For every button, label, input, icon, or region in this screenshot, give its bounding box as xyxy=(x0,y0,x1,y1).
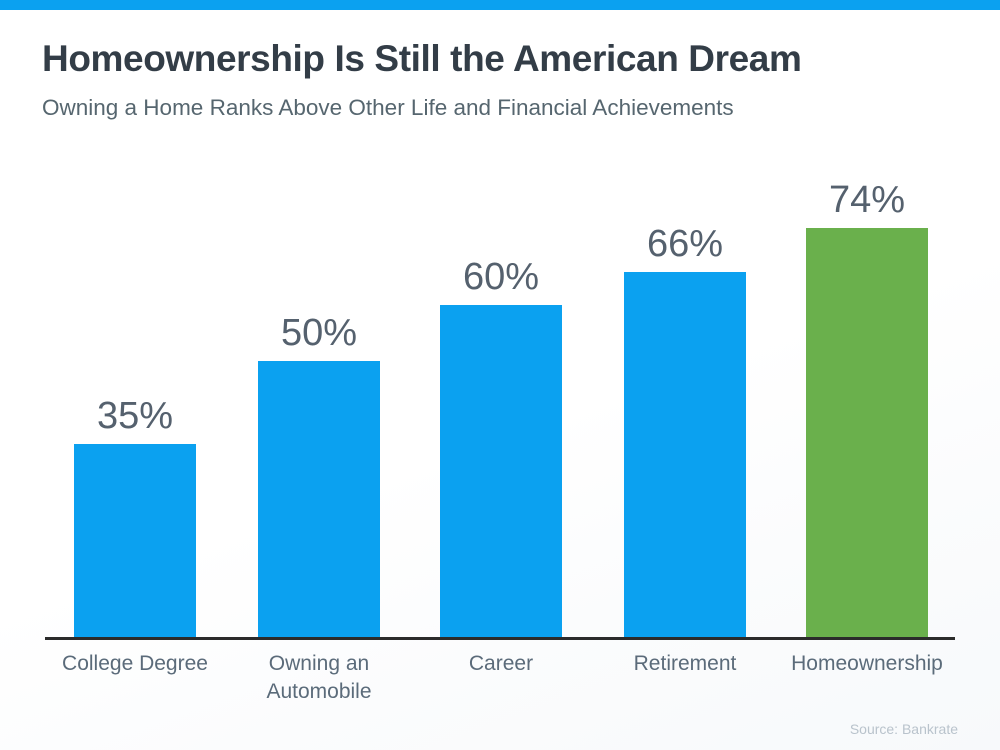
bar-rect[interactable] xyxy=(74,444,196,637)
bar-value-label: 35% xyxy=(97,394,173,438)
x-axis-tick-label-line: Automobile xyxy=(224,678,414,706)
bar-rect[interactable] xyxy=(806,228,928,637)
bar-group: 74% xyxy=(806,228,928,637)
bar-group: 50% xyxy=(258,361,380,637)
x-axis-line xyxy=(45,637,955,640)
bar-value-label: 74% xyxy=(829,178,905,222)
bar-group: 66% xyxy=(624,272,746,637)
source-note: Source: Bankrate xyxy=(850,720,958,738)
bar-value-label: 50% xyxy=(281,311,357,355)
chart-plot-area: 35%50%60%66%74% xyxy=(45,160,955,640)
bar-group: 35% xyxy=(74,444,196,637)
x-axis-tick-label: Homeownership xyxy=(772,650,962,678)
x-axis-tick-label-line: College Degree xyxy=(62,652,208,675)
bar-rect[interactable] xyxy=(624,272,746,637)
bar-value-label: 60% xyxy=(463,255,539,299)
x-axis-tick-label: Retirement xyxy=(590,650,780,678)
x-axis-tick-label-line: Owning an xyxy=(269,652,369,675)
header-block: Homeownership Is Still the American Drea… xyxy=(42,36,962,123)
bar-rect[interactable] xyxy=(440,305,562,637)
x-axis-tick-label: Owning an Automobile xyxy=(224,650,414,706)
bar-rect[interactable] xyxy=(258,361,380,637)
page-subtitle: Owning a Home Ranks Above Other Life and… xyxy=(42,93,962,123)
page-title: Homeownership Is Still the American Drea… xyxy=(42,36,962,82)
x-axis-tick-label-line: Career xyxy=(469,652,533,675)
infographic-canvas: Homeownership Is Still the American Drea… xyxy=(0,0,1000,750)
top-accent-bar xyxy=(0,0,1000,10)
bar-value-label: 66% xyxy=(647,222,723,266)
x-axis-tick-label: College Degree xyxy=(40,650,230,678)
x-axis-tick-label-line: Homeownership xyxy=(791,652,943,675)
bar-group: 60% xyxy=(440,305,562,637)
x-axis-tick-label: Career xyxy=(406,650,596,678)
x-axis-tick-labels: College DegreeOwning an AutomobileCareer… xyxy=(45,650,955,720)
x-axis-tick-label-line: Retirement xyxy=(634,652,737,675)
